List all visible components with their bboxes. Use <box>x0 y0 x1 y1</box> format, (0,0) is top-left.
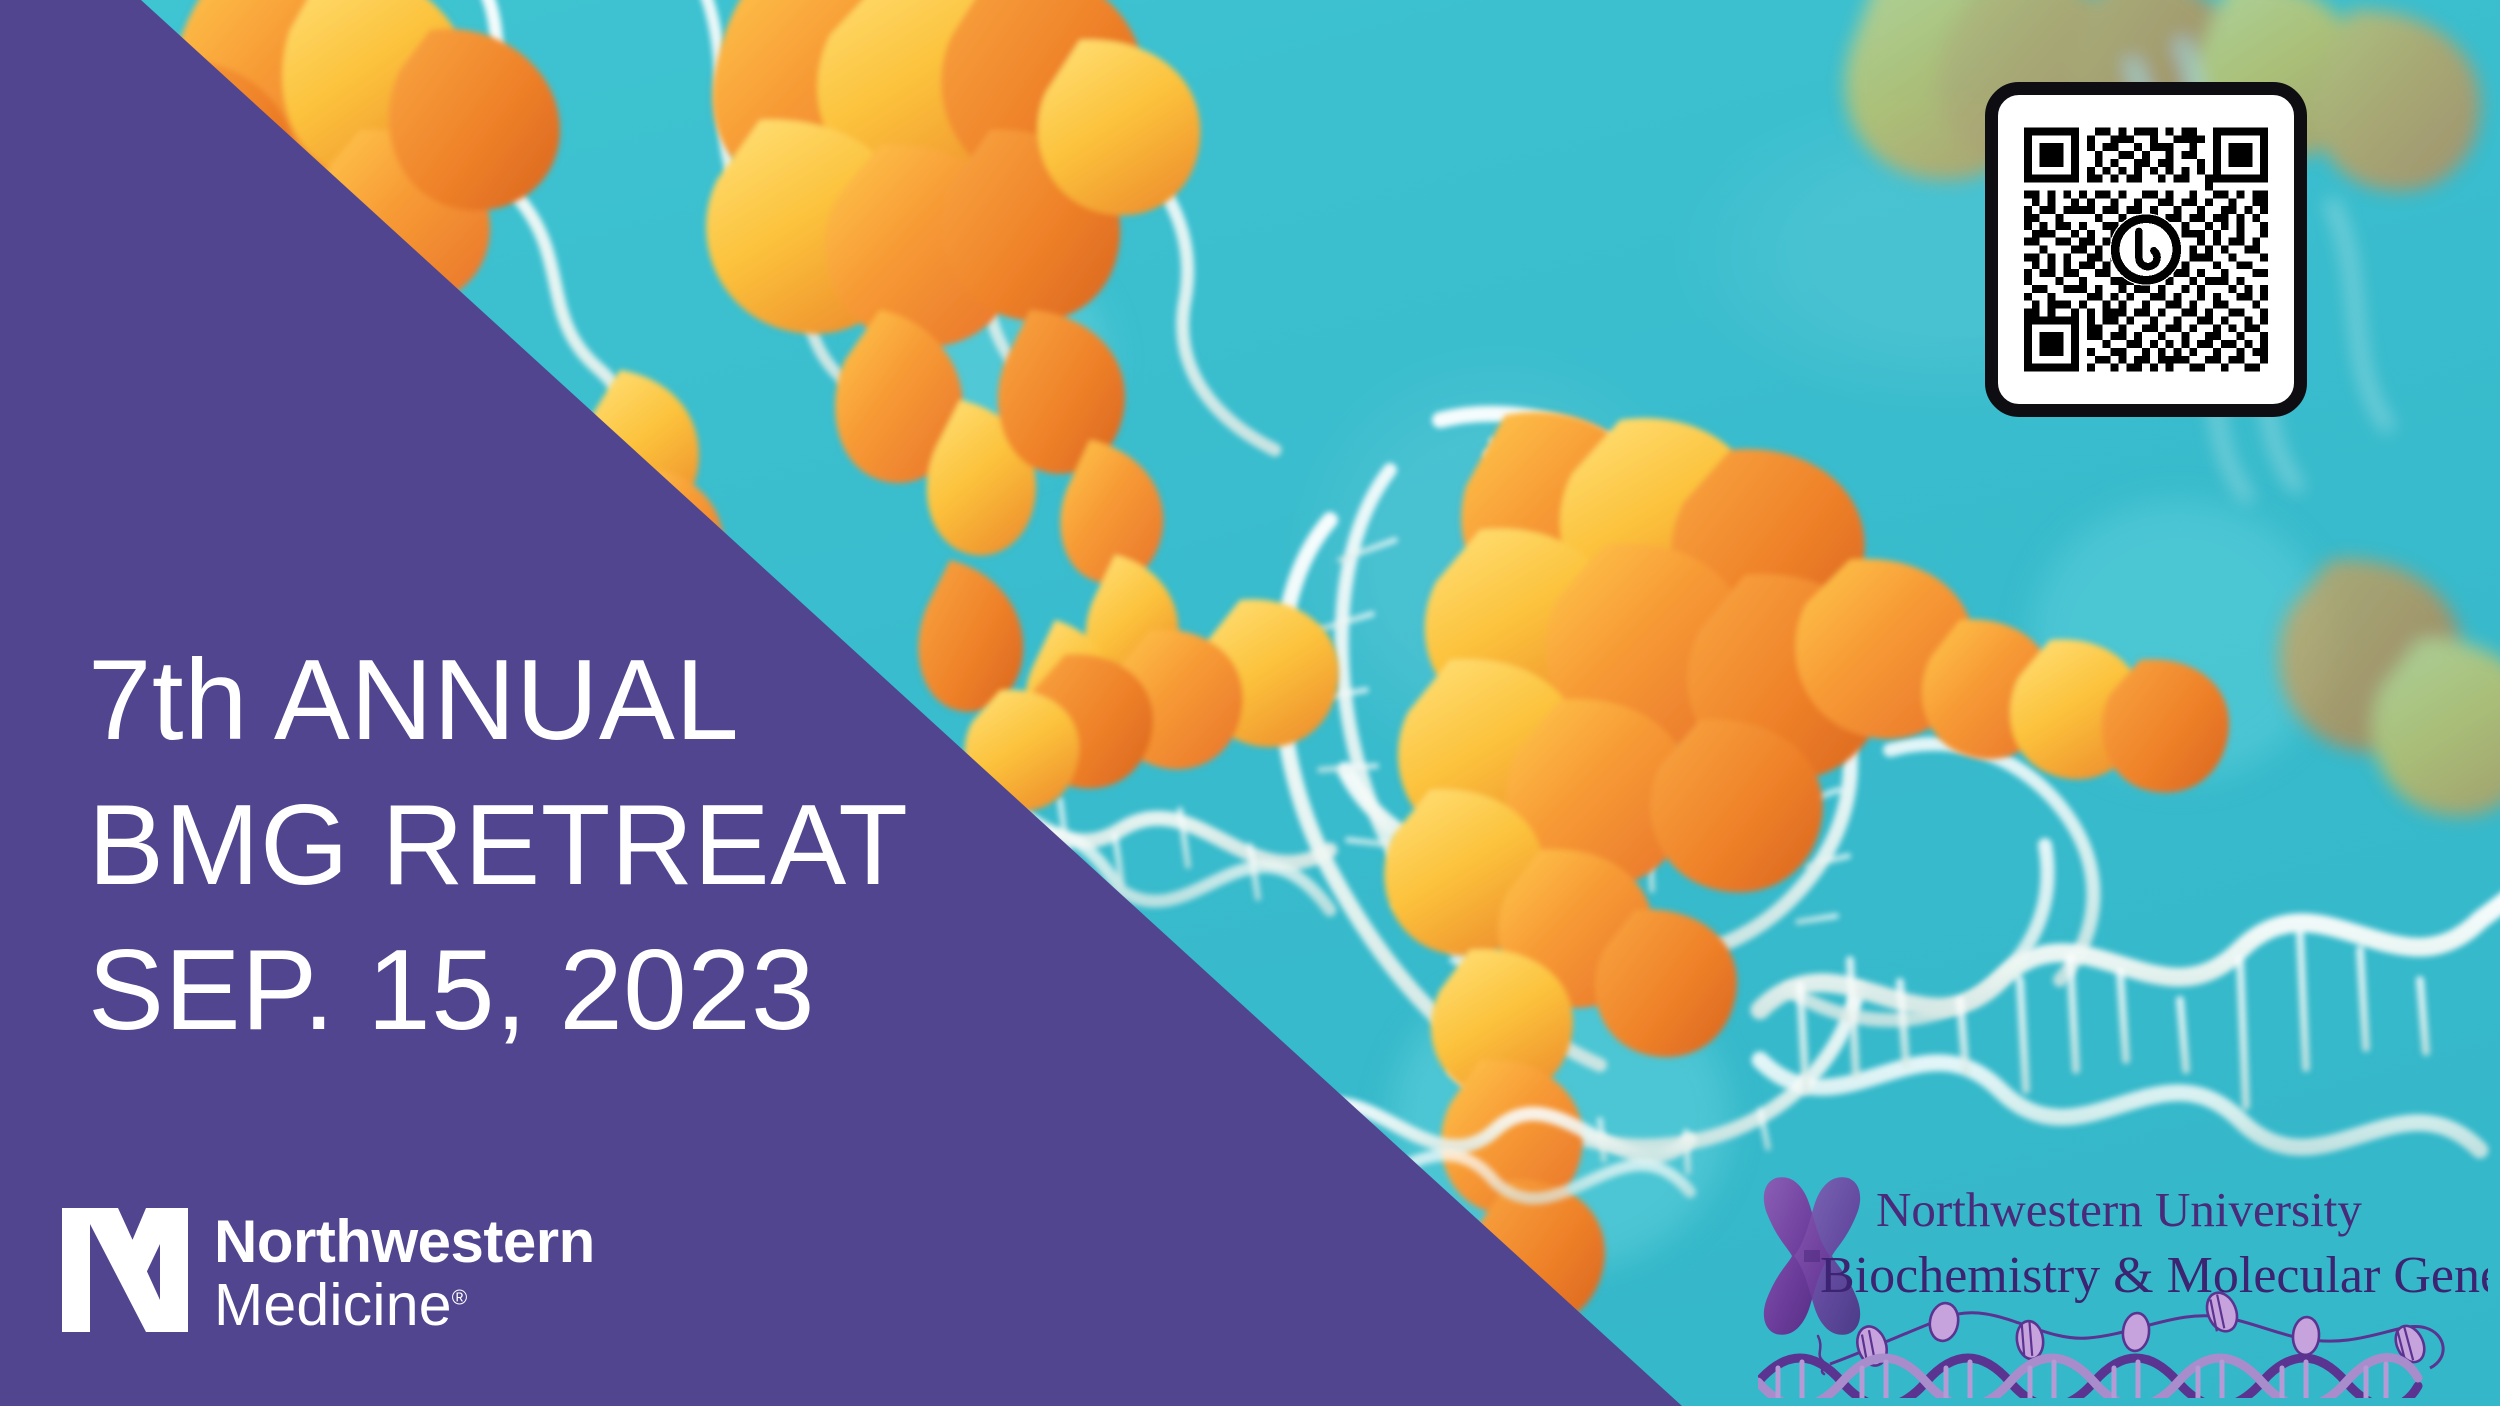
qr-code[interactable] <box>2016 113 2276 386</box>
bmg-line-2: Biochemistry & Molecular Genetics <box>1820 1247 2488 1304</box>
headline-line-3: SEP. 15, 2023 <box>88 918 908 1063</box>
retreat-poster: 7th ANNUAL BMG RETREAT SEP. 15, 2023 Nor… <box>0 0 2500 1406</box>
nm-top-word: Northwestern <box>214 1212 595 1272</box>
nm-monogram-icon <box>62 1208 188 1332</box>
headline-line-1: 7th ANNUAL <box>88 628 908 773</box>
dna-helix-icon <box>1758 1357 2418 1398</box>
page-title: 7th ANNUAL BMG RETREAT SEP. 15, 2023 <box>88 628 908 1063</box>
northwestern-medicine-logo: Northwestern Medicine® <box>62 1208 595 1335</box>
registered-mark-icon: ® <box>452 1286 468 1309</box>
qr-card[interactable] <box>1985 82 2307 417</box>
nm-bottom-word: Medicine® <box>214 1276 595 1335</box>
digital-agenda-qr-widget[interactable]: Digital Agenda! <box>1985 82 2307 417</box>
bmg-department-logo: Northwestern University Biochemistry & M… <box>1758 1172 2488 1398</box>
nm-wordmark: Northwestern Medicine® <box>214 1208 595 1335</box>
headline-line-2: BMG RETREAT <box>88 773 908 918</box>
bmg-line-1: Northwestern University <box>1876 1182 2362 1237</box>
